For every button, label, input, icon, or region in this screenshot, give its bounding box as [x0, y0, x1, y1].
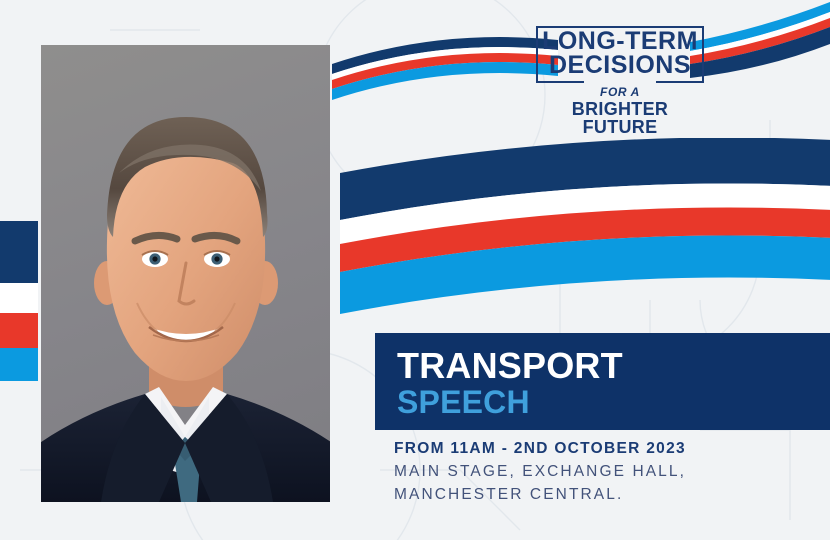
ribbon-swoosh-main [332, 138, 830, 323]
ribbon-band-red [0, 313, 38, 348]
event-venue-line-1: MAIN STAGE, EXCHANGE HALL, [394, 460, 814, 483]
event-details: FROM 11AM - 2ND OCTOBER 2023 MAIN STAGE,… [394, 438, 814, 506]
event-venue-line-2: MANCHESTER CENTRAL. [394, 483, 814, 506]
ribbon-left-edge [0, 221, 38, 381]
ribbon-band-navy [0, 221, 38, 283]
ribbon-band-light-blue [0, 348, 38, 381]
speaker-portrait-photo [41, 45, 330, 502]
ribbon-band-white [0, 283, 38, 313]
ribbon-swoosh-top-right [690, 0, 830, 94]
portrait-illustration [41, 45, 330, 502]
event-title-main: TRANSPORT [397, 347, 623, 385]
logo-line-2: DECISIONS [536, 53, 704, 78]
logo-line-3: BRIGHTER FUTURE [534, 100, 706, 136]
promo-graphic-canvas: LONG-TERM DECISIONS FOR A BRIGHTER FUTUR… [0, 0, 830, 540]
event-title-panel: TRANSPORT SPEECH [375, 333, 830, 430]
ribbon-swoosh-top-left [330, 10, 560, 120]
campaign-logo: LONG-TERM DECISIONS FOR A BRIGHTER FUTUR… [536, 26, 708, 110]
logo-connector-text: FOR A [536, 86, 704, 98]
event-title-sub: SPEECH [397, 385, 530, 419]
event-time-and-date: FROM 11AM - 2ND OCTOBER 2023 [394, 438, 814, 460]
